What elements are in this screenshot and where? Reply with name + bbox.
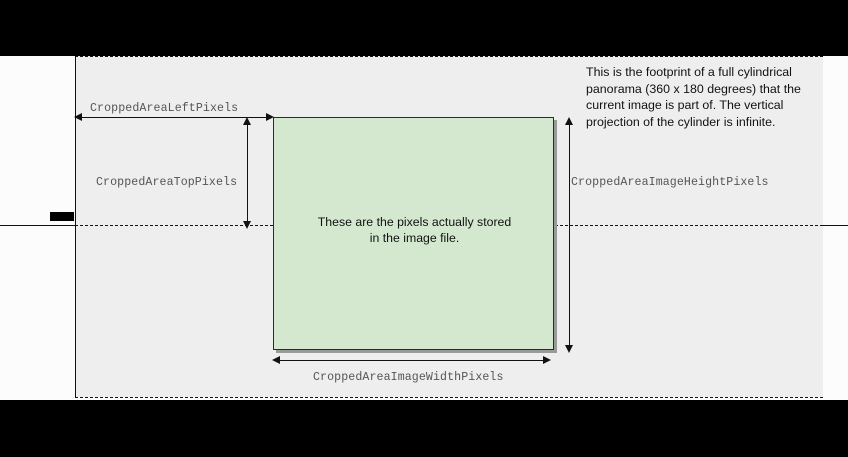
letterbox-band-bottom — [0, 400, 848, 457]
diagram-canvas: These are the pixels actually stored in … — [0, 0, 848, 457]
stored-pixels-caption-line-2: in the image file. — [273, 230, 556, 246]
panorama-footprint-caption: This is the footprint of a full cylindri… — [586, 64, 834, 130]
left-pixels-arrowhead-end — [266, 113, 274, 121]
horizon-line-right — [822, 225, 848, 226]
label-cropped-area-left-pixels: CroppedAreaLeftPixels — [90, 102, 238, 115]
image-width-arrowhead-end — [543, 356, 551, 364]
label-cropped-area-image-width-pixels: CroppedAreaImageWidthPixels — [313, 371, 504, 384]
panel-bottom-dashed-border — [75, 397, 823, 398]
label-cropped-area-top-pixels: CroppedAreaTopPixels — [96, 176, 237, 189]
label-cropped-area-image-height-pixels: CroppedAreaImageHeightPixels — [571, 176, 769, 189]
image-height-arrowhead-start — [565, 117, 573, 125]
top-pixels-arrowhead-start — [243, 117, 251, 125]
stored-pixels-caption-line-1: These are the pixels actually stored — [273, 214, 556, 230]
top-pixels-arrow-line — [247, 124, 248, 222]
image-width-arrow-line — [279, 360, 549, 361]
image-height-arrow-line — [569, 124, 570, 346]
panel-top-dashed-border — [75, 56, 823, 57]
top-pixels-arrowhead-end — [243, 221, 251, 229]
image-height-arrowhead-end — [565, 345, 573, 353]
horizon-marker — [50, 212, 74, 221]
letterbox-band-top — [0, 0, 848, 56]
left-pixels-arrowhead-start — [74, 113, 82, 121]
image-width-arrowhead-start — [272, 356, 280, 364]
panel-left-edge — [75, 56, 76, 397]
stored-pixels-caption: These are the pixels actually stored in … — [273, 214, 556, 246]
horizon-line-left — [0, 225, 76, 226]
left-pixels-arrow-line — [80, 117, 268, 118]
